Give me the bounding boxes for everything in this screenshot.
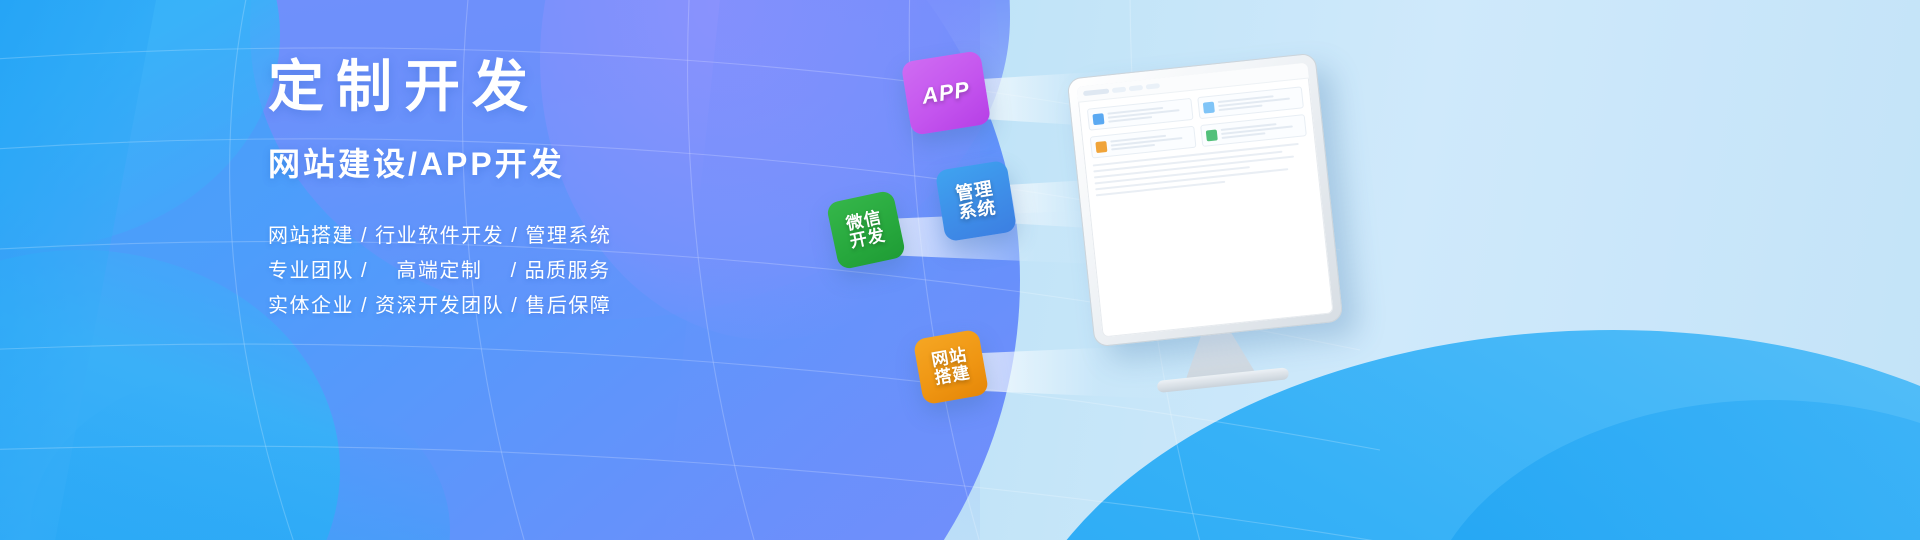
promo-banner: 定制开发 网站建设/APP开发 网站搭建 / 行业软件开发 / 管理系统 专业团… [0,0,1920,540]
screen-topbar-item-3 [1146,83,1160,89]
desktop-monitor [1067,53,1344,348]
screen-card-lines [1107,104,1188,122]
screen-topbar-item-1 [1112,87,1126,93]
page-title: 定制开发 [268,58,788,117]
feature-list: 网站搭建 / 行业软件开发 / 管理系统 专业团队 / 高端定制 / 品质服务 … [268,219,788,324]
page-subtitle: 网站建设/APP开发 [268,139,788,185]
screen-card-icon [1092,113,1104,125]
screen-card-lines [1110,132,1191,150]
feature-line-1: 网站搭建 / 行业软件开发 / 管理系统 [268,219,788,254]
card-management-line2: 系统 [957,198,997,223]
card-app-label: APP [920,78,971,108]
feature-line-3: 实体企业 / 资深开发团队 / 售后保障 [268,289,788,324]
feature-line-2: 专业团队 / 高端定制 / 品质服务 [268,254,788,289]
card-management-system[interactable]: 管理 系统 [935,160,1017,242]
screen-card [1200,114,1307,147]
card-website-building[interactable]: 网站 搭建 [913,329,989,405]
screen-card [1090,126,1197,159]
banner-text-block: 定制开发 网站建设/APP开发 网站搭建 / 行业软件开发 / 管理系统 专业团… [268,58,788,324]
card-wechat-development[interactable]: 微信 开发 [826,190,907,271]
monitor-screen [1076,63,1333,338]
card-app[interactable]: APP [901,50,992,136]
card-website-line2: 搭建 [933,364,972,388]
screen-topbar-logo [1083,88,1109,96]
screen-card-icon [1206,129,1218,141]
screen-card [1197,86,1304,119]
screen-card-icon [1203,101,1215,113]
screen-topbar-item-2 [1129,85,1143,91]
screen-card-lines [1221,121,1302,139]
screen-card [1087,98,1194,131]
screen-card-lines [1218,93,1299,111]
screen-card-icon [1095,140,1107,152]
